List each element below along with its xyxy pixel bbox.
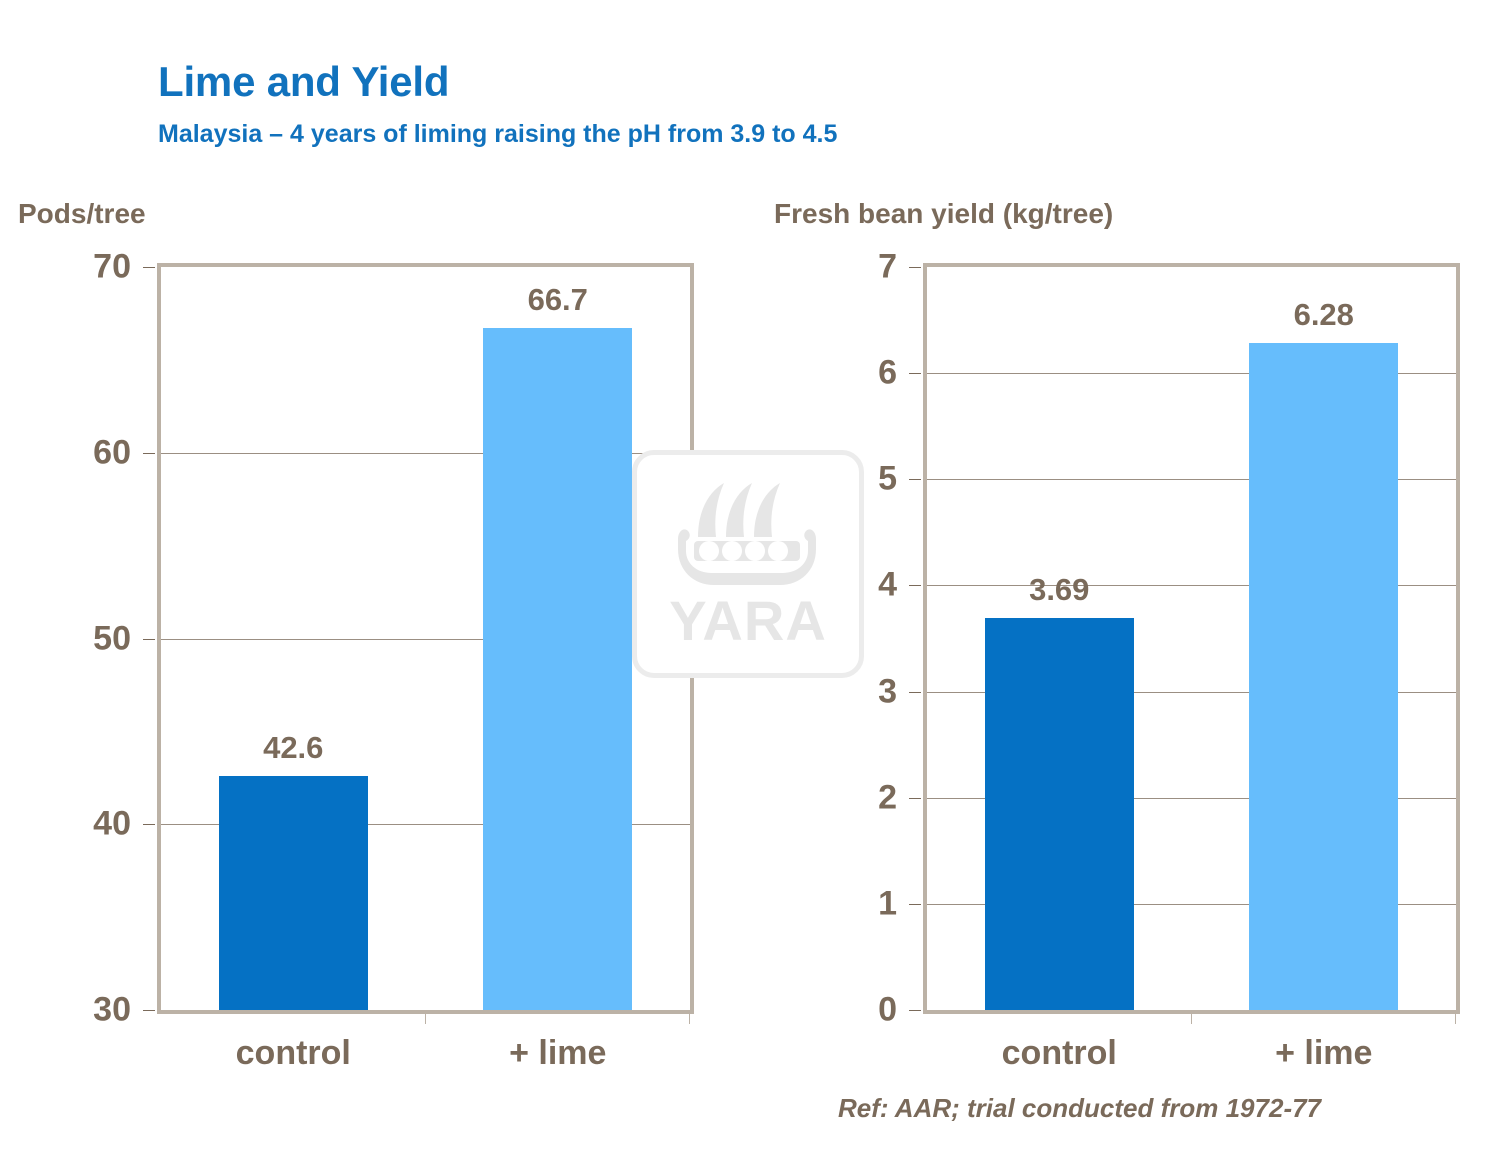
chart-right-plot-area — [923, 263, 1460, 1014]
reference-note: Ref: AAR; trial conducted from 1972-77 — [838, 1093, 1321, 1124]
y-axis-tick-label: 50 — [7, 619, 131, 658]
y-axis-tick-label: 30 — [7, 991, 131, 1030]
y-axis-tick-label: 40 — [7, 805, 131, 844]
y-axis-tick-label: 70 — [7, 248, 131, 287]
y-axis-tick-label: 60 — [7, 433, 131, 472]
x-axis-tick-label: control — [1002, 1034, 1117, 1073]
y-tick-mark — [909, 585, 921, 586]
x-tick-mark — [689, 1012, 690, 1024]
chart-left-axis-title: Pods/tree — [18, 198, 146, 230]
y-axis-tick-label: 2 — [773, 778, 897, 817]
y-tick-mark — [909, 798, 921, 799]
bar-lime — [1249, 343, 1398, 1010]
y-axis-tick-label: 3 — [773, 672, 897, 711]
x-tick-mark — [425, 1012, 426, 1024]
y-tick-mark — [909, 1010, 921, 1011]
y-tick-mark — [909, 267, 921, 268]
x-axis-tick-label: control — [236, 1034, 351, 1073]
y-axis-tick-label: 5 — [773, 460, 897, 499]
chart-right-axis-title: Fresh bean yield (kg/tree) — [774, 198, 1113, 230]
x-axis-tick-label: + lime — [509, 1034, 606, 1073]
y-tick-mark — [143, 824, 155, 825]
y-tick-mark — [143, 639, 155, 640]
x-axis-tick-label: + lime — [1275, 1034, 1372, 1073]
chart-left-plot-area — [157, 263, 694, 1014]
y-axis-tick-label: 7 — [773, 248, 897, 287]
y-axis-tick-label: 6 — [773, 354, 897, 393]
x-tick-mark — [1455, 1012, 1456, 1024]
y-tick-mark — [143, 267, 155, 268]
bar-lime — [483, 328, 632, 1010]
bar-control — [219, 776, 368, 1010]
y-tick-mark — [143, 453, 155, 454]
y-tick-mark — [909, 904, 921, 905]
bar-value-label: 66.7 — [528, 282, 588, 318]
y-axis-tick-label: 1 — [773, 884, 897, 923]
y-axis-tick-label: 4 — [773, 566, 897, 605]
bar-control — [985, 618, 1134, 1010]
page-subtitle: Malaysia – 4 years of liming raising the… — [158, 120, 837, 149]
x-tick-mark — [1191, 1012, 1192, 1024]
bar-value-label: 6.28 — [1294, 297, 1354, 333]
y-tick-mark — [909, 692, 921, 693]
bar-value-label: 42.6 — [263, 730, 323, 766]
bar-value-label: 3.69 — [1029, 572, 1089, 608]
y-tick-mark — [909, 479, 921, 480]
page-title: Lime and Yield — [158, 58, 449, 106]
y-tick-mark — [143, 1010, 155, 1011]
y-axis-tick-label: 0 — [773, 991, 897, 1030]
y-tick-mark — [909, 373, 921, 374]
